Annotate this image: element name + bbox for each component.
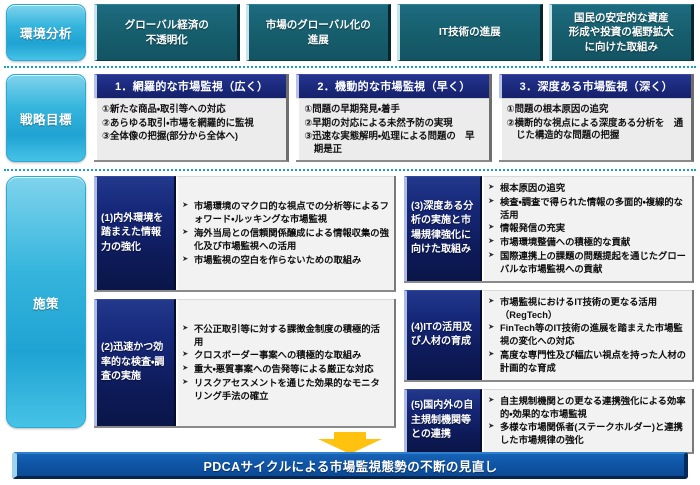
strategy-goal-card: 2．機動的な市場監視（早く） ①問題の早期発見・着手 ②早期の対応による未然予防… xyxy=(296,74,491,162)
strategy-goal-point: ③迅速な実態解明・処理による問題の 早期是正 xyxy=(304,130,483,155)
measure-bullet-list: 不公正取引等に対する課徴金制度の積極的活用 クロスボーダー事案への積極的な取組み… xyxy=(176,299,394,426)
measure-item: (4)ITの活用及び人材の育成 市場監視におけるIT技術の更なる活用（RegTe… xyxy=(404,290,694,382)
measure-bullet: クロスボーダー事案への積極的な取組み xyxy=(182,349,389,362)
measure-bullet: 市場環境整備への積極的な貢献 xyxy=(488,236,687,249)
strategy-goal-row: 戦略目標 1．網羅的な市場監視（広く） ①新たな商品・取引等への対応 ②あらゆる… xyxy=(0,74,700,162)
strategy-goal-point: ②あらゆる取引・市場を網羅的に監視 xyxy=(102,117,281,130)
market-surveillance-strategy-diagram: 環境分析 グローバル経済の不透明化 市場のグローバル化の進展 IT技術の進展 国… xyxy=(0,0,700,485)
measure-bullet: 多様な市場関係者(ステークホルダー)と連携した市場規律の強化 xyxy=(488,421,687,447)
measure-tag: (1)内外環境を踏まえた情報力の強化 xyxy=(94,176,176,290)
measure-bullet: 市場監視の空白を作らないための取組み xyxy=(182,254,389,267)
measures-row: 施策 (1)内外環境を踏まえた情報力の強化 市場環境のマクロ的な視点での分析等に… xyxy=(0,176,700,428)
measure-bullet-list: 根本原因の追究 検査・調査で得られた情報の多面的・複線的な活用 情報発信の充実 … xyxy=(482,176,692,281)
section-divider xyxy=(4,66,696,68)
environment-factor-box: IT技術の進展 xyxy=(397,4,543,61)
measure-bullet: 自主規制機関との更なる連携強化による効率的・効果的な市場監視 xyxy=(488,395,687,421)
section-divider xyxy=(4,169,696,171)
measure-bullet: 情報発信の充実 xyxy=(488,222,687,235)
down-arrow-icon xyxy=(318,432,382,454)
strategy-goal-body: ①新たな商品・取引等への対応 ②あらゆる取引・市場を網羅的に監視 ③全体像の把握… xyxy=(94,98,286,160)
strategy-goal-body: ①問題の根本原因の追究 ②横断的な視点による深度ある分析を 通じた構造的な問題の… xyxy=(499,98,691,160)
measures-columns: (1)内外環境を踏まえた情報力の強化 市場環境のマクロ的な視点での分析等によるフ… xyxy=(94,176,700,428)
strategy-goal-card: 3．深度ある市場監視（深く） ①問題の根本原因の追究 ②横断的な視点による深度あ… xyxy=(499,74,694,162)
environment-factor-box: 市場のグローバル化の進展 xyxy=(246,4,392,61)
strategy-goal-body: ①問題の早期発見・着手 ②早期の対応による未然予防の実現 ③迅速な実態解明・処理… xyxy=(296,98,488,160)
environment-factor-list: グローバル経済の不透明化 市場のグローバル化の進展 IT技術の進展 国民の安定的… xyxy=(94,4,700,61)
measure-tag: (3)深度ある分析の実施と市場規律強化に向けた取組み xyxy=(404,176,482,281)
measure-bullet: 根本原因の追究 xyxy=(488,182,687,195)
strategy-goal-card: 1．網羅的な市場監視（広く） ①新たな商品・取引等への対応 ②あらゆる取引・市場… xyxy=(94,74,289,162)
measure-bullet-list: 市場環境のマクロ的な視点での分析等によるフォワード・ルッキングな市場監視 海外当… xyxy=(176,176,394,290)
environment-factor-box: グローバル経済の不透明化 xyxy=(94,4,240,61)
measure-bullet: リスクアセスメントを通じた効果的なモニタリング手法の確立 xyxy=(182,377,389,403)
environment-analysis-row: 環境分析 グローバル経済の不透明化 市場のグローバル化の進展 IT技術の進展 国… xyxy=(0,4,700,61)
measure-tag: (2)迅速かつ効率的な検査・調査の実施 xyxy=(94,299,176,426)
strategy-goal-point: ②横断的な視点による深度ある分析を 通じた構造的な問題の把握 xyxy=(507,117,686,142)
measure-bullet: 国際連携上の課題の問題提起を通じたグローバルな市場監視への貢献 xyxy=(488,250,687,276)
measure-item: (2)迅速かつ効率的な検査・調査の実施 不公正取引等に対する課徴金制度の積極的活… xyxy=(94,299,396,428)
measures-right-column: (3)深度ある分析の実施と市場規律強化に向けた取組み 根本原因の追究 検査・調査… xyxy=(404,176,694,428)
environment-analysis-label: 環境分析 xyxy=(6,4,86,61)
measure-bullet: 高度な専門性及び幅広い視点を持った人材の計画的な育成 xyxy=(488,349,687,375)
measure-bullet: 不公正取引等に対する課徴金制度の積極的活用 xyxy=(182,323,389,349)
measure-bullet: FinTech等のIT技術の進展を踏まえた市場監視の変化への対応 xyxy=(488,322,687,348)
strategy-goal-point: ③全体像の把握(部分から全体へ) xyxy=(102,130,281,143)
strategy-goal-label: 戦略目標 xyxy=(6,74,86,162)
measures-left-column: (1)内外環境を踏まえた情報力の強化 市場環境のマクロ的な視点での分析等によるフ… xyxy=(94,176,396,428)
pdca-banner: PDCAサイクルによる市場監視態勢の不断の見直し xyxy=(12,452,688,479)
strategy-goal-point: ①新たな商品・取引等への対応 xyxy=(102,103,281,116)
strategy-goal-list: 1．網羅的な市場監視（広く） ①新たな商品・取引等への対応 ②あらゆる取引・市場… xyxy=(94,74,700,162)
strategy-goal-point: ②早期の対応による未然予防の実現 xyxy=(304,117,483,130)
measure-item: (3)深度ある分析の実施と市場規律強化に向けた取組み 根本原因の追究 検査・調査… xyxy=(404,176,694,283)
measure-bullet: 市場環境のマクロ的な視点での分析等によるフォワード・ルッキングな市場監視 xyxy=(182,200,389,226)
measure-item: (1)内外環境を踏まえた情報力の強化 市場環境のマクロ的な視点での分析等によるフ… xyxy=(94,176,396,292)
measure-bullet-list: 自主規制機関との更なる連携強化による効率的・効果的な市場監視 多様な市場関係者(… xyxy=(482,389,692,452)
environment-factor-box: 国民の安定的な資産形成や投資の裾野拡大に向けた取組み xyxy=(549,4,695,61)
measure-bullet: 市場監視におけるIT技術の更なる活用（RegTech） xyxy=(488,296,687,322)
strategy-goal-point: ①問題の早期発見・着手 xyxy=(304,103,483,116)
measures-label: 施策 xyxy=(6,176,86,428)
measure-item: (5)国内外の自主規制機関等との連携 自主規制機関との更なる連携強化による効率的… xyxy=(404,389,694,454)
strategy-goal-point: ①問題の根本原因の追究 xyxy=(507,103,686,116)
strategy-goal-title: 2．機動的な市場監視（早く） xyxy=(296,74,488,98)
measure-tag: (4)ITの活用及び人材の育成 xyxy=(404,290,482,380)
strategy-goal-title: 1．網羅的な市場監視（広く） xyxy=(94,74,286,98)
measure-bullet-list: 市場監視におけるIT技術の更なる活用（RegTech） FinTech等のIT技… xyxy=(482,290,692,380)
strategy-goal-title: 3．深度ある市場監視（深く） xyxy=(499,74,691,98)
measure-tag: (5)国内外の自主規制機関等との連携 xyxy=(404,389,482,452)
measure-bullet: 検査・調査で得られた情報の多面的・複線的な活用 xyxy=(488,196,687,222)
measure-bullet: 海外当局との信頼関係醸成による情報収集の強化及び市場監視への活用 xyxy=(182,227,389,253)
measure-bullet: 重大・悪質事案への告発等による厳正な対応 xyxy=(182,363,389,376)
